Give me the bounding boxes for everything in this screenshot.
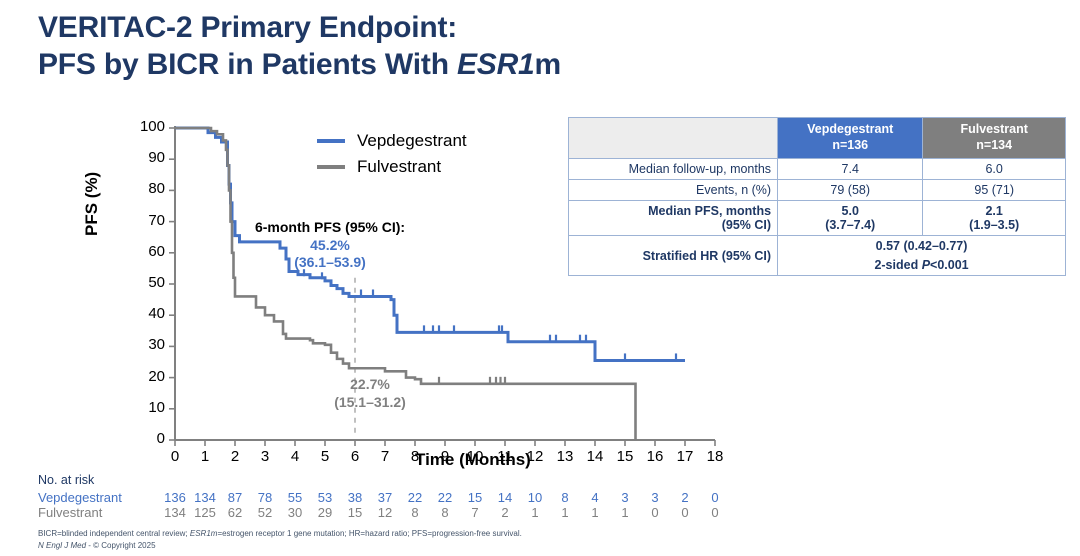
header-vep-n: n=136: [784, 138, 916, 154]
at-risk-value-vepdegestrant-m6: 38: [343, 490, 367, 505]
median-pfs-ful-value: 2.1: [929, 204, 1059, 218]
table-row: Median PFS, months (95% CI) 5.0 (3.7–7.4…: [569, 201, 1066, 236]
p-value-prefix: 2-sided: [874, 258, 921, 272]
at-risk-value-vepdegestrant-m9: 22: [433, 490, 457, 505]
y-tick-label-40: 40: [131, 305, 165, 322]
row-value-median-pfs-ful: 2.1 (1.9–3.5): [923, 201, 1066, 236]
header-vep-name: Vepdegestrant: [784, 122, 916, 138]
page-title: VERITAC-2 Primary Endpoint: PFS by BICR …: [38, 10, 758, 83]
at-risk-label-fulvestrant: Fulvestrant: [38, 505, 102, 520]
row-label-median-pfs-line2: (95% CI): [575, 218, 771, 232]
at-risk-value-vepdegestrant-m2: 87: [223, 490, 247, 505]
row-label-stratified-hr: Stratified HR (95% CI): [569, 236, 778, 276]
median-pfs-ful-ci: (1.9–3.5): [929, 218, 1059, 232]
at-risk-value-fulvestrant-m7: 12: [373, 505, 397, 520]
at-risk-value-fulvestrant-m4: 30: [283, 505, 307, 520]
y-tick-label-70: 70: [131, 212, 165, 229]
x-tick-label-16: 16: [643, 448, 667, 465]
median-pfs-vep-ci: (3.7–7.4): [784, 218, 916, 232]
at-risk-value-fulvestrant-m1: 125: [193, 505, 217, 520]
p-value-rest: <0.001: [930, 258, 969, 272]
at-risk-value-fulvestrant-m15: 1: [613, 505, 637, 520]
hr-value: 0.57 (0.42–0.77): [784, 239, 1059, 253]
title-gene-italic: ESR1: [457, 48, 535, 81]
at-risk-value-fulvestrant-m9: 8: [433, 505, 457, 520]
at-risk-value-vepdegestrant-m3: 78: [253, 490, 277, 505]
at-risk-value-fulvestrant-m6: 15: [343, 505, 367, 520]
y-tick-label-60: 60: [131, 243, 165, 260]
x-tick-label-10: 10: [463, 448, 487, 465]
legend-label-fulvestrant: Fulvestrant: [357, 157, 441, 177]
six-month-pfs-header: 6-month PFS (95% CI):: [235, 219, 425, 237]
at-risk-value-fulvestrant-m17: 0: [673, 505, 697, 520]
x-tick-label-2: 2: [223, 448, 247, 465]
row-value-median-followup-ful: 6.0: [923, 159, 1066, 180]
y-tick-label-0: 0: [131, 430, 165, 447]
row-label-median-pfs-line1: Median PFS, months: [575, 204, 771, 218]
header-ful-n: n=134: [929, 138, 1059, 154]
at-risk-value-fulvestrant-m18: 0: [703, 505, 727, 520]
at-risk-value-fulvestrant-m0: 134: [163, 505, 187, 520]
x-tick-label-14: 14: [583, 448, 607, 465]
at-risk-row-vepdegestrant: Vepdegestrant136134877855533837222215141…: [38, 490, 798, 504]
x-tick-label-12: 12: [523, 448, 547, 465]
vep-six-month-value: 45.2%: [235, 237, 425, 255]
x-tick-label-15: 15: [613, 448, 637, 465]
at-risk-value-fulvestrant-m16: 0: [643, 505, 667, 520]
title-line-2: PFS by BICR in Patients With ESR1m: [38, 47, 758, 84]
at-risk-table: No. at risk Vepdegestrant136134877855533…: [38, 473, 798, 487]
at-risk-value-vepdegestrant-m4: 55: [283, 490, 307, 505]
at-risk-value-fulvestrant-m10: 7: [463, 505, 487, 520]
row-value-stratified-hr: 0.57 (0.42–0.77) 2-sided P<0.001: [778, 236, 1066, 276]
title-gene-suffix: m: [535, 48, 561, 81]
results-table-corner-cell: [569, 118, 778, 159]
x-tick-label-3: 3: [253, 448, 277, 465]
p-value-symbol: P: [922, 258, 930, 272]
y-tick-label-50: 50: [131, 274, 165, 291]
x-tick-label-17: 17: [673, 448, 697, 465]
fulvestrant-six-month-annotation: 22.7% (15.1–31.2): [285, 376, 455, 411]
y-axis-label: PFS (%): [82, 172, 102, 236]
row-label-median-pfs: Median PFS, months (95% CI): [569, 201, 778, 236]
at-risk-label-vepdegestrant: Vepdegestrant: [38, 490, 122, 505]
at-risk-value-fulvestrant-m12: 1: [523, 505, 547, 520]
at-risk-value-vepdegestrant-m17: 2: [673, 490, 697, 505]
table-row-hazard-ratio: Stratified HR (95% CI) 0.57 (0.42–0.77) …: [569, 236, 1066, 276]
at-risk-value-fulvestrant-m5: 29: [313, 505, 337, 520]
at-risk-value-vepdegestrant-m1: 134: [193, 490, 217, 505]
p-value: 2-sided P<0.001: [784, 258, 1059, 272]
at-risk-value-vepdegestrant-m15: 3: [613, 490, 637, 505]
row-value-median-followup-vep: 7.4: [778, 159, 923, 180]
at-risk-value-vepdegestrant-m13: 8: [553, 490, 577, 505]
y-tick-label-10: 10: [131, 399, 165, 416]
at-risk-title: No. at risk: [38, 473, 798, 487]
at-risk-value-vepdegestrant-m10: 15: [463, 490, 487, 505]
footnote-journal: N Engl J Med: [38, 541, 86, 550]
x-tick-label-5: 5: [313, 448, 337, 465]
y-tick-label-100: 100: [131, 118, 165, 135]
results-table-header-vepdegestrant: Vepdegestrant n=136: [778, 118, 923, 159]
table-row: Events, n (%) 79 (58) 95 (71): [569, 180, 1066, 201]
table-row: Median follow-up, months 7.4 6.0: [569, 159, 1066, 180]
legend-swatch-fulvestrant: [317, 165, 345, 169]
ful-six-month-value: 22.7%: [285, 376, 455, 394]
at-risk-value-vepdegestrant-m16: 3: [643, 490, 667, 505]
x-tick-label-4: 4: [283, 448, 307, 465]
row-value-events-vep: 79 (58): [778, 180, 923, 201]
ful-six-month-ci: (15.1–31.2): [285, 394, 455, 412]
header-ful-name: Fulvestrant: [929, 122, 1059, 138]
at-risk-value-vepdegestrant-m18: 0: [703, 490, 727, 505]
six-month-pfs-annotation: 6-month PFS (95% CI): 45.2% (36.1–53.9): [235, 219, 425, 272]
at-risk-value-vepdegestrant-m12: 10: [523, 490, 547, 505]
footnote-line1-a: BICR=blinded independent central review;: [38, 529, 190, 538]
at-risk-value-vepdegestrant-m5: 53: [313, 490, 337, 505]
at-risk-value-fulvestrant-m8: 8: [403, 505, 427, 520]
legend-item-vepdegestrant: Vepdegestrant: [317, 128, 467, 154]
x-tick-label-9: 9: [433, 448, 457, 465]
x-tick-label-0: 0: [163, 448, 187, 465]
y-tick-label-90: 90: [131, 149, 165, 166]
at-risk-value-fulvestrant-m11: 2: [493, 505, 517, 520]
footnote: BICR=blinded independent central review;…: [38, 528, 522, 551]
footnote-copyright-text: - © Copyright 2025: [86, 541, 155, 550]
title-line-2-text: PFS by BICR in Patients With: [38, 48, 457, 81]
row-label-events: Events, n (%): [569, 180, 778, 201]
at-risk-value-vepdegestrant-m0: 136: [163, 490, 187, 505]
legend-label-vepdegestrant: Vepdegestrant: [357, 131, 467, 151]
at-risk-value-vepdegestrant-m14: 4: [583, 490, 607, 505]
x-tick-label-7: 7: [373, 448, 397, 465]
x-tick-label-11: 11: [493, 448, 517, 465]
at-risk-value-fulvestrant-m14: 1: [583, 505, 607, 520]
x-tick-label-8: 8: [403, 448, 427, 465]
row-value-events-ful: 95 (71): [923, 180, 1066, 201]
y-tick-label-30: 30: [131, 336, 165, 353]
at-risk-value-fulvestrant-m2: 62: [223, 505, 247, 520]
results-table-header-row: Vepdegestrant n=136 Fulvestrant n=134: [569, 118, 1066, 159]
row-label-median-followup: Median follow-up, months: [569, 159, 778, 180]
chart-legend: Vepdegestrant Fulvestrant: [317, 128, 467, 180]
at-risk-value-vepdegestrant-m8: 22: [403, 490, 427, 505]
y-tick-label-20: 20: [131, 368, 165, 385]
results-table-header-fulvestrant: Fulvestrant n=134: [923, 118, 1066, 159]
x-tick-label-18: 18: [703, 448, 727, 465]
at-risk-value-vepdegestrant-m11: 14: [493, 490, 517, 505]
footnote-copyright: N Engl J Med - © Copyright 2025: [38, 540, 522, 552]
legend-swatch-vepdegestrant: [317, 139, 345, 143]
at-risk-value-vepdegestrant-m7: 37: [373, 490, 397, 505]
x-tick-label-1: 1: [193, 448, 217, 465]
y-tick-label-80: 80: [131, 180, 165, 197]
results-table: Vepdegestrant n=136 Fulvestrant n=134 Me…: [568, 117, 1066, 276]
row-value-median-pfs-vep: 5.0 (3.7–7.4): [778, 201, 923, 236]
at-risk-value-fulvestrant-m13: 1: [553, 505, 577, 520]
at-risk-value-fulvestrant-m3: 52: [253, 505, 277, 520]
legend-item-fulvestrant: Fulvestrant: [317, 154, 467, 180]
median-pfs-vep-value: 5.0: [784, 204, 916, 218]
title-line-1: VERITAC-2 Primary Endpoint:: [38, 10, 758, 47]
footnote-abbreviations: BICR=blinded independent central review;…: [38, 528, 522, 540]
vep-six-month-ci: (36.1–53.9): [235, 254, 425, 272]
x-tick-label-6: 6: [343, 448, 367, 465]
x-tick-label-13: 13: [553, 448, 577, 465]
at-risk-row-fulvestrant: Fulvestrant13412562523029151288721111000: [38, 505, 798, 519]
footnote-line1-b: =estrogen receptor 1 gene mutation; HR=h…: [217, 529, 521, 538]
footnote-gene-italic: ESR1m: [190, 529, 218, 538]
